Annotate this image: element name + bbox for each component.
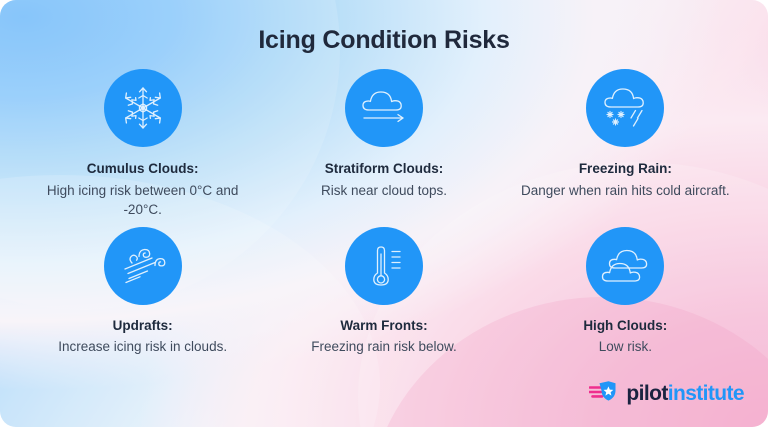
risk-card-description: Low risk. (599, 337, 652, 356)
risk-card-updrafts: Updrafts: Increase icing risk in clouds. (22, 227, 263, 357)
risk-card-freezing-rain: Freezing Rain: Danger when rain hits col… (505, 69, 746, 219)
cloud-snow-rain-icon (600, 85, 650, 131)
risk-card-description: Danger when rain hits cold aircraft. (521, 181, 730, 200)
winged-shield-star-icon (589, 380, 619, 407)
icon-circle-freezing-rain (586, 69, 664, 147)
cloud-with-arrow-icon (359, 86, 409, 130)
page-title: Icing Condition Risks (22, 26, 746, 55)
double-cloud-icon (599, 245, 651, 287)
risk-card-heading: Stratiform Clouds: (325, 159, 444, 179)
content-area: Icing Condition Risks (0, 0, 768, 427)
logo-word-pilot: pilot (626, 382, 667, 405)
thermometer-icon (362, 242, 406, 290)
risk-card-heading: Cumulus Clouds: (87, 159, 199, 179)
icon-circle-stratiform-clouds (345, 69, 423, 147)
risk-card-description: High icing risk between 0°C and -20°C. (35, 181, 250, 219)
wind-updraft-icon (119, 243, 167, 289)
icon-circle-warm-fronts (345, 227, 423, 305)
risk-card-description: Risk near cloud tops. (321, 181, 447, 200)
icon-circle-high-clouds (586, 227, 664, 305)
risk-card-stratiform-clouds: Stratiform Clouds: Risk near cloud tops. (263, 69, 504, 219)
logo-wordmark: pilotinstitute (626, 383, 744, 404)
risk-card-warm-fronts: Warm Fronts: Freezing rain risk below. (263, 227, 504, 357)
risk-card-cumulus-clouds: Cumulus Clouds: High icing risk between … (22, 69, 263, 219)
risk-card-description: Freezing rain risk below. (311, 337, 457, 356)
risk-card-grid: Cumulus Clouds: High icing risk between … (22, 69, 746, 357)
risk-card-heading: Warm Fronts: (340, 316, 427, 336)
risk-card-heading: High Clouds: (583, 316, 667, 336)
logo-word-institute: institute (668, 382, 744, 405)
risk-card-heading: Updrafts: (113, 316, 173, 336)
risk-card-description: Increase icing risk in clouds. (58, 337, 227, 356)
infographic-canvas: Icing Condition Risks (0, 0, 768, 427)
snowflake-icon (119, 84, 167, 132)
risk-card-heading: Freezing Rain: (579, 159, 672, 179)
risk-card-high-clouds: High Clouds: Low risk. (505, 227, 746, 357)
pilot-institute-logo[interactable]: pilotinstitute (589, 380, 744, 407)
icon-circle-updrafts (104, 227, 182, 305)
icon-circle-cumulus-clouds (104, 69, 182, 147)
